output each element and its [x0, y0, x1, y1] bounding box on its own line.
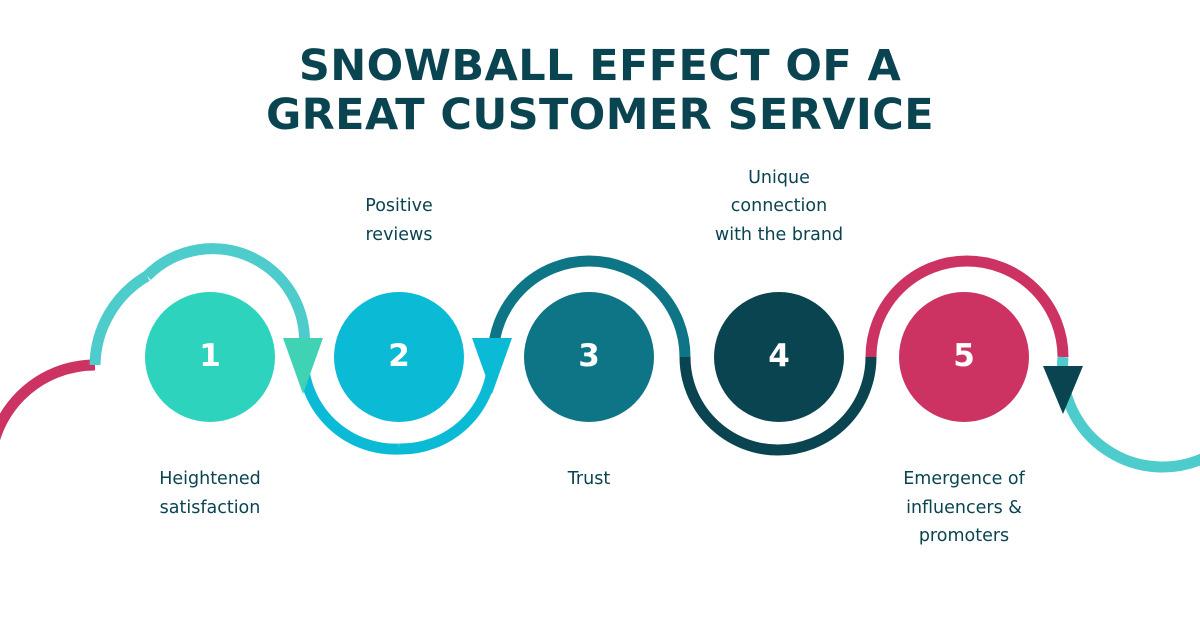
step-circle-2[interactable]: [334, 292, 464, 422]
lead-in-arc-pink-segment: [0, 365, 95, 470]
step-circles: [145, 292, 1029, 422]
step-circle-4[interactable]: [714, 292, 844, 422]
lead-out-arc-path: [1062, 357, 1200, 467]
step-circle-5[interactable]: [899, 292, 1029, 422]
lead-out-arc: [1062, 357, 1200, 467]
step-circle-1[interactable]: [145, 292, 275, 422]
lead-in-arc-teal-segment: [95, 276, 147, 365]
step-caption-2-line-2: reviews: [284, 221, 514, 250]
step-caption-5-line-3: promoters: [849, 522, 1079, 551]
step-caption-4: Unique connection with the brand: [664, 164, 894, 250]
step-caption-2: Positive reviews: [284, 192, 514, 249]
lead-in-arc: [0, 276, 147, 470]
arrowhead-after-step-1: [283, 338, 323, 394]
step-caption-5: Emergence of influencers & promoters: [849, 465, 1079, 551]
step-caption-5-line-2: influencers &: [849, 494, 1079, 523]
step-circle-3[interactable]: [524, 292, 654, 422]
infographic-canvas: SNOWBALL EFFECT OF A GREAT CUSTOMER SERV…: [0, 0, 1200, 627]
step-caption-3: Trust: [474, 465, 704, 494]
step-caption-2-line-1: Positive: [284, 192, 514, 221]
step-caption-1-line-1: Heightened: [95, 465, 325, 494]
step-caption-4-line-3: with the brand: [664, 221, 894, 250]
step-caption-3-line-1: Trust: [474, 465, 704, 494]
arrowhead-after-step-5: [1043, 366, 1083, 414]
step-caption-5-line-1: Emergence of: [849, 465, 1079, 494]
step-caption-4-line-2: connection: [664, 192, 894, 221]
step-caption-1: Heightened satisfaction: [95, 465, 325, 522]
step-caption-4-line-1: Unique: [664, 164, 894, 193]
arrowhead-after-step-3: [472, 338, 512, 394]
step-caption-1-line-2: satisfaction: [95, 494, 325, 523]
